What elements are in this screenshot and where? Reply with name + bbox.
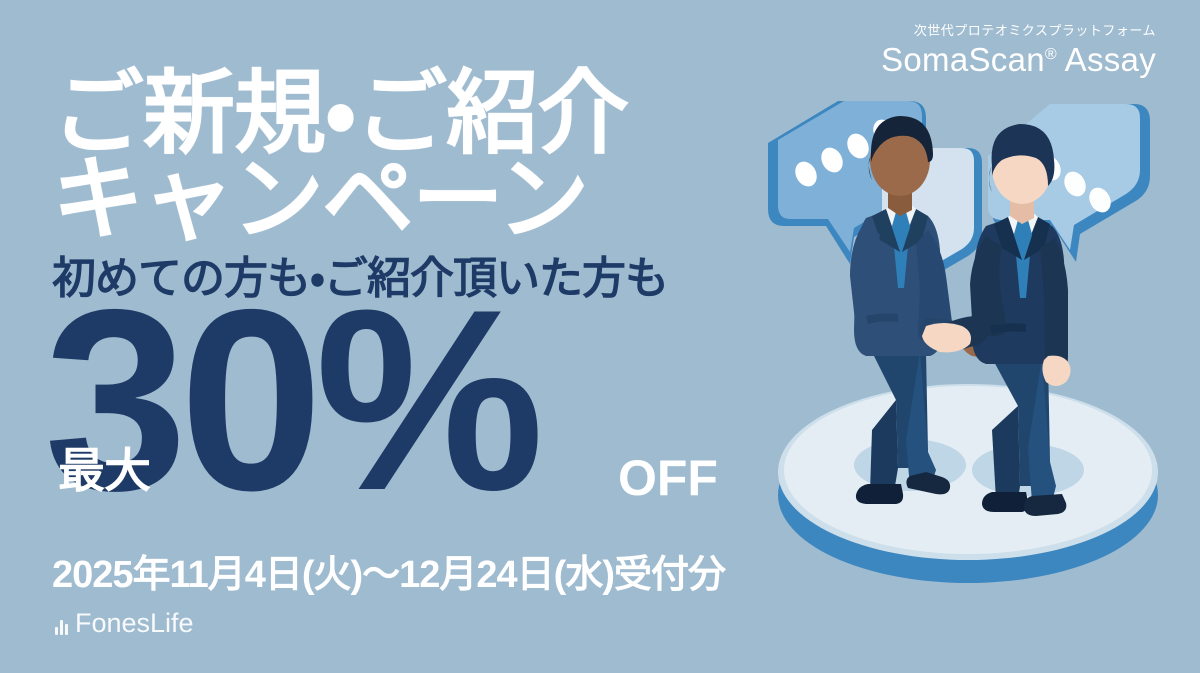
bar-mark-icon [55,618,68,637]
campaign-period: 2025年11月4日(火)〜12月24日(水)受付分 [52,556,725,594]
headline-line-1: ご新規・ご紹介 [52,72,732,158]
round-platform [778,384,1158,583]
logo-text: FonesLife [75,610,194,637]
discount-suffix: OFF [618,453,718,503]
discount-cluster: 30% 最大 OFF [52,297,732,512]
campaign-copy: ご新規・ご紹介 キャンペーン 初めての方も・ご紹介頂いた方も 30% 最大 OF… [52,72,732,512]
foneslife-logo: FonesLife [55,610,194,637]
headline-line-2: キャンペーン [52,158,732,244]
handshake-businessmen-illustration [730,0,1200,673]
campaign-banner: 次世代プロテオミクスプラットフォーム SomaScan® Assay ご新規・ご… [0,0,1200,673]
discount-qualifier: 最大 [58,447,150,494]
